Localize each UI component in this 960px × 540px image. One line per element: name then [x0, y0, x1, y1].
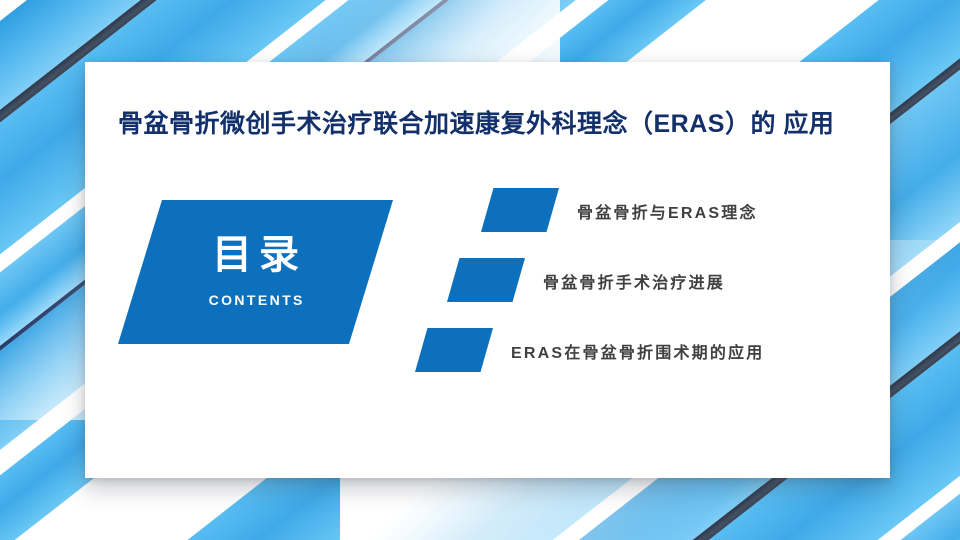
page-title: 骨盆骨折微创手术治疗联合加速康复外科理念（ERAS）的 应用 — [118, 104, 878, 140]
toc-heading-chinese: 目录 — [118, 222, 393, 280]
toc-heading-block: 目录 CONTENTS — [118, 200, 393, 344]
toc-heading-english: CONTENTS — [118, 292, 393, 308]
agenda-label-01: 骨盆骨折与ERAS理念 — [577, 199, 758, 223]
agenda-item-03[interactable]: 03 ERAS在骨盆骨折围术期的应用 — [415, 328, 885, 374]
agenda-label-03: ERAS在骨盆骨折围术期的应用 — [511, 339, 764, 363]
agenda-label-02: 骨盆骨折手术治疗进展 — [543, 269, 725, 293]
agenda-item-01[interactable]: 01 骨盆骨折与ERAS理念 — [481, 188, 885, 234]
presentation-slide: 骨盆骨折微创手术治疗联合加速康复外科理念（ERAS）的 应用 目录 CONTEN… — [0, 0, 960, 540]
agenda-list: 01 骨盆骨折与ERAS理念 02 骨盆骨折手术治疗进展 03 ERAS在骨盆骨… — [415, 188, 885, 398]
agenda-item-02[interactable]: 02 骨盆骨折手术治疗进展 — [447, 258, 885, 304]
content-card: 骨盆骨折微创手术治疗联合加速康复外科理念（ERAS）的 应用 目录 CONTEN… — [85, 62, 890, 478]
